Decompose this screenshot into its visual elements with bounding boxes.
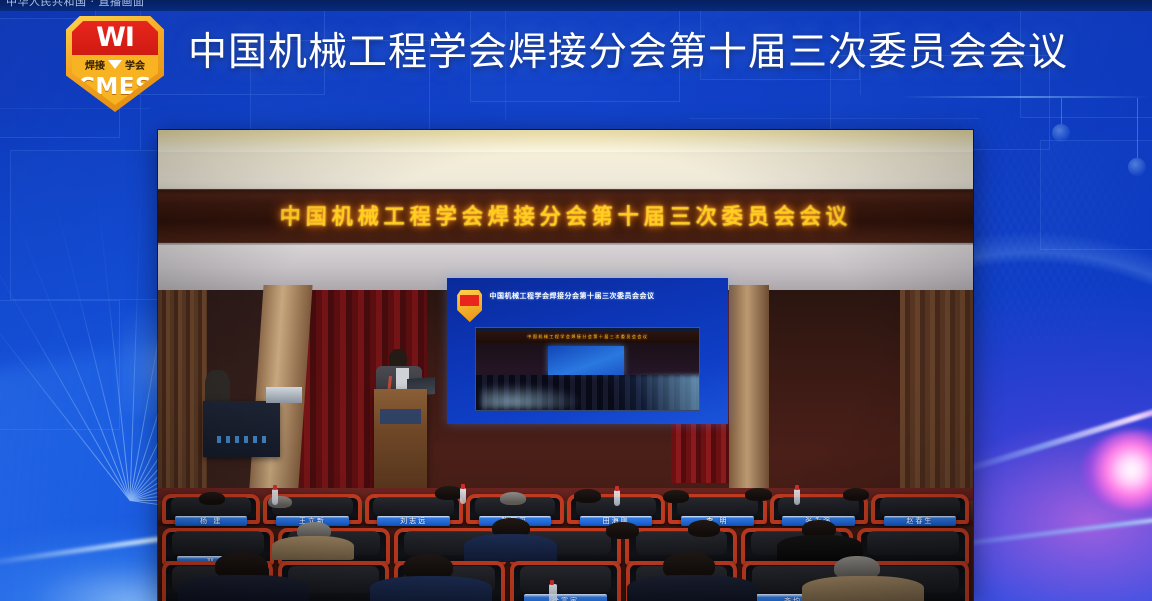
logo-red-band: WI xyxy=(72,21,158,55)
name-placard: 赵春生 xyxy=(884,516,957,526)
speaker-podium xyxy=(374,389,427,497)
logo-middle-row: 焊接 学会 xyxy=(72,55,158,75)
av-control-desk xyxy=(203,401,280,458)
comet-tail xyxy=(954,403,1152,476)
cmes-logo: WI 焊接 学会 CMES xyxy=(66,16,164,112)
name-placard: 徐富家 xyxy=(524,594,606,601)
header-bar: WI 焊接 学会 CMES 中国机械工程学会焊接分会第十届三次委员会会议 xyxy=(0,11,1152,121)
table-row: 赵春生 xyxy=(871,494,969,524)
stage-arch-right xyxy=(729,285,770,497)
stage-screen-inner-screen xyxy=(548,346,624,376)
stage-screen-inner-glow xyxy=(481,384,584,409)
audience-seating: 杨 建 王立新 刘志远 陈国平 田海刚 李 明 张永强 赵春生 xyxy=(158,507,973,601)
stage-screen-inner-beam xyxy=(579,375,700,411)
ceiling-warm-light xyxy=(158,130,973,152)
logo-text-left: 焊接 xyxy=(85,57,105,72)
stage-screen-inner-banner: 中国机械工程学会焊接分会第十届三次委员会会议 xyxy=(476,331,699,343)
logo-wi-text: WI xyxy=(96,24,134,51)
logo-text-right: 学会 xyxy=(125,57,145,72)
av-monitor xyxy=(266,387,303,403)
broadcast-screen: 中华人民共和国 · 直播画面 WI 焊接 学会 CMES 中国机械工程学会焊接分… xyxy=(0,0,1152,601)
name-placard: 刘志远 xyxy=(377,516,450,526)
stage-screen-title: 中国机械工程学会焊接分会第十届三次委员会会议 xyxy=(489,291,722,301)
table-row: 徐富家 xyxy=(510,561,621,601)
stage-screen-inner-banner-text: 中国机械工程学会焊接分会第十届三次委员会会议 xyxy=(527,334,648,340)
page-title: 中国机械工程学会焊接分会第十届三次委员会会议 xyxy=(188,33,1068,72)
stage-screen-logo xyxy=(457,290,482,322)
stage-led-screen: 中国机械工程学会焊接分会第十届三次委员会会议 中国机械工程学会焊接分会第十届三次… xyxy=(447,278,728,424)
wall-wood-right xyxy=(900,290,973,497)
led-banner-text: 中国机械工程学会焊接分会第十届三次委员会会议 xyxy=(279,205,852,226)
top-strip-text: 中华人民共和国 · 直播画面 xyxy=(6,0,145,9)
conference-hall-photo: 中国机械工程学会焊接分会第十届三次委员会会议 中国机械工程学会焊接分会第十届三次… xyxy=(158,130,973,601)
logo-triangle-icon xyxy=(108,60,122,69)
led-banner: 中国机械工程学会焊接分会第十届三次委员会会议 xyxy=(158,189,973,243)
logo-inner: WI 焊接 学会 CMES xyxy=(72,21,158,105)
stage-screen-inner-photo: 中国机械工程学会焊接分会第十届三次委员会会议 xyxy=(475,327,700,412)
top-cutoff-strip: 中华人民共和国 · 直播画面 xyxy=(0,0,1152,11)
name-placard: 杨 建 xyxy=(175,516,248,526)
comet-head-glow xyxy=(1082,430,1152,510)
